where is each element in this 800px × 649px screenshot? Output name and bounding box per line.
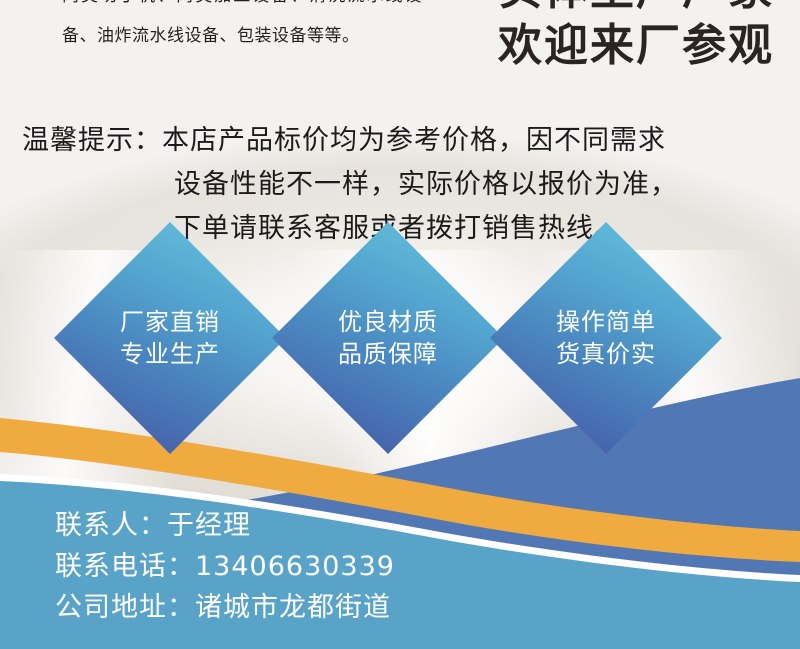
feature-diamond-2-line-1: 优良材质 bbox=[338, 306, 438, 338]
feature-diamond-1-content: 厂家直销 专业生产 bbox=[88, 256, 252, 420]
contact-phone[interactable]: 联系电话：13406630339 bbox=[55, 546, 395, 587]
feature-diamond-1-line-2: 专业生产 bbox=[120, 338, 220, 370]
feature-diamond-1: 厂家直销 专业生产 bbox=[54, 222, 286, 454]
feature-diamond-2: 优良材质 品质保障 bbox=[272, 222, 504, 454]
feature-diamond-3-line-1: 操作简单 bbox=[556, 306, 656, 338]
feature-diamond-3-line-2: 货真价实 bbox=[556, 338, 656, 370]
feature-diamond-3: 操作简单 货真价实 bbox=[490, 222, 722, 454]
contact-address: 公司地址：诸城市龙都街道 bbox=[55, 587, 395, 628]
promo-poster: 肉类切丁机、肉类加工设备、清洗流水线设备、油炸流水线设备、包装设备等等。 实体生… bbox=[0, 0, 800, 649]
feature-diamond-3-content: 操作简单 货真价实 bbox=[524, 256, 688, 420]
feature-diamond-2-content: 优良材质 品质保障 bbox=[306, 256, 470, 420]
contact-block: 联系人：于经理 联系电话：13406630339 公司地址：诸城市龙都街道 bbox=[55, 505, 395, 628]
feature-diamond-1-line-1: 厂家直销 bbox=[120, 306, 220, 338]
feature-diamond-2-line-2: 品质保障 bbox=[338, 338, 438, 370]
contact-person: 联系人：于经理 bbox=[55, 505, 395, 546]
